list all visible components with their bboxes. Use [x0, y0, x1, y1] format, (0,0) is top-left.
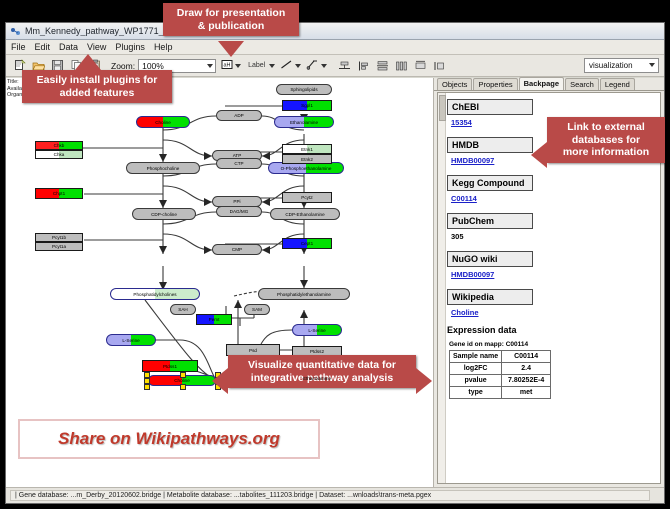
node-chka[interactable]: Chka: [35, 150, 83, 159]
callout-link-arrow: [531, 142, 547, 168]
callout-plugins: Easily install plugins for added feature…: [22, 70, 172, 103]
node-label: Etnk1: [301, 147, 313, 152]
callout-share: Share on Wikipathways.org: [18, 419, 320, 459]
callout-visualize-text: Visualize quantitative data for integrat…: [228, 355, 416, 388]
node-label: Choline: [174, 378, 190, 383]
node-label: Pcyt1a: [52, 244, 66, 249]
callout-draw-label: Draw for presentation & publication: [177, 7, 286, 32]
expression-data-table: Sample name C00114 log2FC 2.4 pvalue 7.8…: [449, 350, 551, 399]
line-icon: [280, 57, 293, 75]
svg-text:aH: aH: [224, 62, 231, 68]
node-label: L-Serine: [122, 338, 139, 343]
node-sah[interactable]: SAH: [170, 304, 196, 315]
db-header-nugo-wiki: NuGO wiki: [447, 251, 533, 267]
node-label: Phosphatidylethanolamine: [277, 292, 331, 297]
menu-item-help[interactable]: Help: [154, 42, 173, 52]
node-label: Pemt: [209, 317, 220, 322]
node-etnk1[interactable]: Etnk1: [282, 144, 332, 154]
node-label: DAG/MG: [230, 209, 249, 214]
common-width-icon[interactable]: [411, 57, 429, 75]
chevron-down-icon: [649, 63, 655, 67]
node-label: Pcyt1b: [52, 235, 66, 240]
expr-label-log2fc: log2FC: [450, 363, 502, 375]
align-left-icon[interactable]: [354, 57, 372, 75]
callout-share-label: Share on Wikipathways.org: [58, 429, 280, 449]
db-link-wikipedia[interactable]: Choline: [451, 308, 658, 317]
stack-vertical-icon[interactable]: [373, 57, 391, 75]
node-phosphatidylcholines[interactable]: Phosphatidylcholines: [110, 288, 200, 300]
expr-value-pvalue: 7.80252E-4: [502, 375, 551, 387]
node-chpt1[interactable]: Chpt1: [35, 188, 83, 199]
menu-bar: File Edit Data View Plugins Help: [6, 40, 664, 55]
expr-label-sample-name: Sample name: [450, 351, 502, 363]
node-label: PPi: [233, 199, 240, 204]
line-tool[interactable]: [280, 57, 301, 75]
distribute-horizontal-icon[interactable]: [392, 57, 410, 75]
node-sam[interactable]: SAM: [244, 304, 270, 315]
node-label: CTP: [234, 161, 243, 166]
callout-link: Link to external databases for more info…: [547, 117, 665, 163]
zoom-value: 100%: [142, 61, 164, 71]
tab-search[interactable]: Search: [565, 78, 599, 90]
node-label: Phosphocholine: [147, 166, 180, 171]
callout-draw-arrow: [218, 41, 244, 57]
table-row: Sample name C00114: [450, 351, 551, 363]
expr-label-pvalue: pvalue: [450, 375, 502, 387]
menu-item-data[interactable]: Data: [59, 42, 78, 52]
node-label: O-Phosphoethanolamine: [281, 166, 332, 171]
node-label: Choline: [155, 120, 171, 125]
expr-value-sample-name: C00114: [502, 351, 551, 363]
shape-tool[interactable]: [306, 57, 327, 75]
table-row: type met: [450, 387, 551, 399]
node-phosphocholine[interactable]: Phosphocholine: [126, 162, 200, 174]
node-cdp-ethanolamine[interactable]: CDP-Ethanolamine: [270, 208, 340, 220]
visualization-select[interactable]: visualization: [584, 58, 659, 73]
db-header-wikipedia: Wikipedia: [447, 289, 533, 305]
tab-properties[interactable]: Properties: [473, 78, 517, 90]
node-label: Phosphatidylcholines: [133, 292, 176, 297]
node-pcyt1b[interactable]: Pcyt1b: [35, 233, 83, 242]
node-label: L-Serine: [308, 328, 325, 333]
db-header-kegg-compound: Kegg Compound: [447, 175, 533, 191]
chevron-down-icon: [295, 64, 301, 68]
expr-value-type: met: [502, 387, 551, 399]
chevron-down-icon: [235, 64, 241, 68]
zoom-label: Zoom:: [111, 61, 135, 71]
title-bar: Mm_Kennedy_pathway_WP1771_45176.gp: [6, 23, 664, 40]
node-label: Sphingolipids: [290, 87, 317, 92]
node-label: SAM: [252, 307, 262, 312]
node-label: Pcyt2: [301, 195, 313, 200]
backpage-scrollbar[interactable]: [438, 93, 446, 483]
node-label: Cept1: [301, 241, 313, 246]
node-label: Ptdss1: [163, 364, 177, 369]
label-tool[interactable]: Label: [246, 62, 275, 69]
label-tool-caption: Label: [248, 62, 265, 69]
node-cdp-choline[interactable]: CDP-choline: [132, 208, 196, 220]
status-bar: | Gene database: ...m_Derby_20120602.bri…: [6, 487, 664, 503]
gene-id-on-mapp: Gene id on mapp: C00114: [449, 341, 658, 348]
common-height-icon[interactable]: [430, 57, 448, 75]
datanode-tool[interactable]: aH: [221, 57, 241, 75]
expression-data-heading: Expression data: [447, 325, 658, 335]
menu-item-view[interactable]: View: [87, 42, 106, 52]
callout-plugins-label: Easily install plugins for added feature…: [37, 74, 158, 99]
node-cept1[interactable]: Cept1: [282, 238, 332, 249]
node-label: Psd: [249, 348, 257, 353]
callout-link-text: Link to external databases for more info…: [547, 117, 665, 163]
chevron-down-icon: [269, 64, 275, 68]
node-label: ATP: [233, 153, 242, 158]
menu-item-plugins[interactable]: Plugins: [115, 42, 145, 52]
tab-legend[interactable]: Legend: [600, 78, 635, 90]
chevron-down-icon: [207, 64, 213, 68]
selection-handle-s[interactable]: [180, 384, 186, 390]
node-label: CDP-Ethanolamine: [285, 212, 324, 217]
node-label: CDP-choline: [151, 212, 177, 217]
expr-value-log2fc: 2.4: [502, 363, 551, 375]
node-pcyt2[interactable]: Pcyt2: [282, 192, 332, 203]
expr-label-type: type: [450, 387, 502, 399]
node-sgpl1[interactable]: Sgpl1: [282, 100, 332, 111]
node-label: Ethanolamine: [290, 120, 318, 125]
db-header-chebi: ChEBI: [447, 99, 533, 115]
node-l-serine-right[interactable]: L-Serine: [292, 324, 342, 336]
node-ptdss1[interactable]: Ptdss1: [142, 360, 198, 372]
callout-visualize: Visualize quantitative data for integrat…: [228, 355, 416, 388]
tab-objects[interactable]: Objects: [437, 78, 472, 90]
callout-link-label: Link to external databases for more info…: [563, 121, 649, 158]
callout-visualize-arrow-left: [212, 368, 228, 394]
callout-visualize-arrow-right: [416, 368, 432, 394]
chevron-down-icon: [321, 64, 327, 68]
db-link-kegg-compound[interactable]: C00114: [451, 194, 658, 203]
node-choline-selected[interactable]: Choline: [144, 372, 220, 388]
node-ctp[interactable]: CTP: [216, 158, 262, 169]
node-dagmg[interactable]: DAG/MG: [216, 206, 262, 217]
node-sphingolipids[interactable]: Sphingolipids: [276, 84, 332, 95]
callout-plugins-arrow: [75, 54, 101, 70]
tab-backpage[interactable]: Backpage: [519, 77, 564, 90]
align-center-icon[interactable]: [335, 57, 353, 75]
node-label: Sgpl1: [301, 103, 313, 108]
callout-draw-text: Draw for presentation & publication: [163, 3, 299, 36]
node-label: Chpt1: [53, 191, 65, 196]
node-label: Ethanolamine: [303, 376, 331, 381]
pathvisio-icon: [10, 26, 21, 37]
node-choline-top[interactable]: Choline: [136, 116, 190, 128]
node-chkb[interactable]: Chkb: [35, 141, 83, 150]
db-link-nugo-wiki[interactable]: HMDB00097: [451, 270, 658, 279]
scrollbar-thumb[interactable]: [439, 95, 446, 121]
menu-item-edit[interactable]: Edit: [35, 42, 51, 52]
callout-draw: Draw for presentation & publication: [163, 3, 299, 36]
selection-handle-sw[interactable]: [144, 384, 150, 390]
visualization-value: visualization: [589, 61, 633, 70]
node-label: Chkb: [54, 143, 65, 148]
node-label: Chka: [54, 152, 65, 157]
node-adp[interactable]: ADP: [216, 110, 262, 121]
db-value-pubchem: 305: [451, 232, 658, 241]
table-row: log2FC 2.4: [450, 363, 551, 375]
node-ethanolamine-top[interactable]: Ethanolamine: [274, 116, 334, 128]
node-l-serine-left[interactable]: L-Serine: [106, 334, 156, 346]
node-cmp[interactable]: CMP: [212, 244, 262, 255]
node-label: Etnk2: [301, 157, 313, 162]
table-row: pvalue 7.80252E-4: [450, 375, 551, 387]
node-phosphatidylethanolamine[interactable]: Phosphatidylethanolamine: [258, 288, 350, 300]
menu-item-file[interactable]: File: [11, 42, 26, 52]
node-label: SAH: [178, 307, 187, 312]
db-header-pubchem: PubChem: [447, 213, 533, 229]
node-label: CMP: [232, 247, 242, 252]
callout-plugins-text: Easily install plugins for added feature…: [22, 70, 172, 103]
datanode-icon: aH: [221, 57, 233, 75]
node-label: ADP: [234, 113, 243, 118]
node-pemt[interactable]: Pemt: [196, 314, 232, 325]
db-header-hmdb: HMDB: [447, 137, 533, 153]
screenshot-root: Mm_Kennedy_pathway_WP1771_45176.gp File …: [0, 0, 670, 509]
side-panel-tabs: Objects Properties Backpage Search Legen…: [434, 78, 664, 91]
node-pcyt1a[interactable]: Pcyt1a: [35, 242, 83, 251]
shape-icon: [306, 57, 319, 75]
node-etnk2[interactable]: Etnk2: [282, 154, 332, 164]
node-label: Ptdss2: [310, 349, 324, 354]
status-bar-text: | Gene database: ...m_Derby_20120602.bri…: [10, 490, 650, 501]
